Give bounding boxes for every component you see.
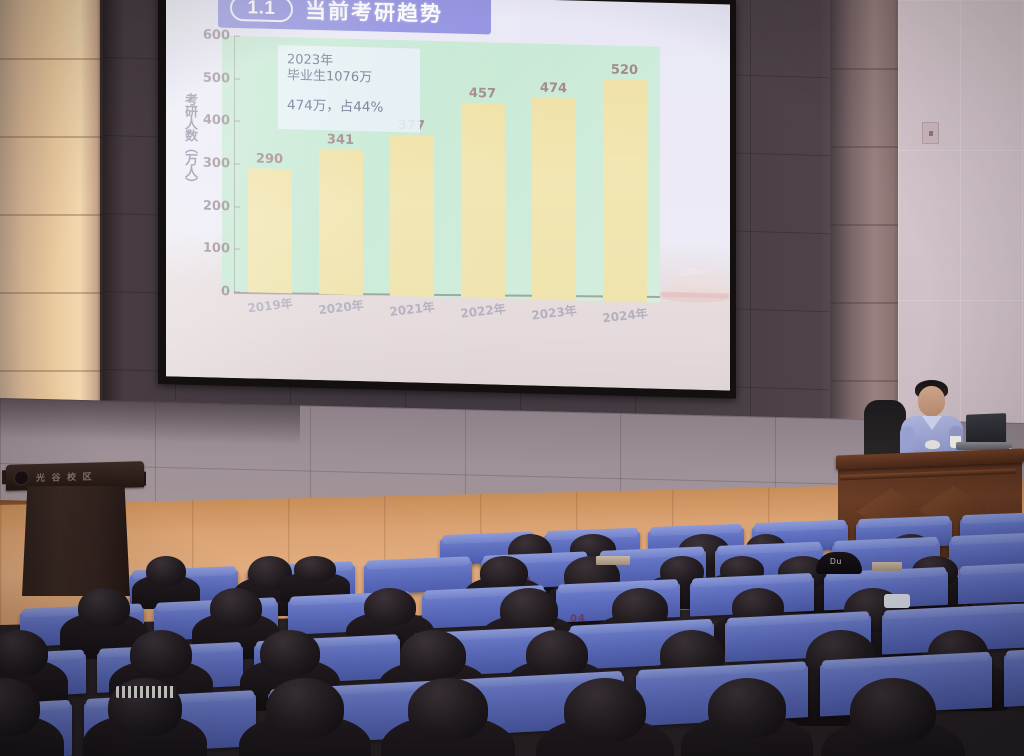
- chart-bar-value-label: 290: [248, 152, 292, 168]
- chart-bar-value-label: 520: [603, 62, 647, 78]
- auditorium-scene: 1.1 当前考研趋势 考研人数（万人） 0100200300400500600 …: [0, 0, 1024, 756]
- audience-member-head: [500, 588, 558, 632]
- audience-cap: Du: [816, 552, 862, 574]
- audience-member-head: [708, 678, 786, 738]
- audience-member-head: [400, 630, 466, 680]
- annotation-line-3: 474万，占44%: [287, 97, 411, 116]
- chart-y-tick-label: 0: [221, 284, 230, 299]
- slide-section-badge: 1.1: [230, 0, 293, 22]
- annotation-line-2: 毕业生1076万: [287, 68, 411, 87]
- audience-member-head: [260, 630, 320, 676]
- chart-y-tick-label: 400: [203, 113, 230, 129]
- chart-y-axis-ticks: 0100200300400500600: [194, 35, 234, 292]
- projection-screen-surface: 1.1 当前考研趋势 考研人数（万人） 0100200300400500600 …: [166, 0, 730, 390]
- books-decoration-icon: [656, 259, 730, 307]
- audience-member-head: [210, 588, 262, 628]
- chart-bar-column: 520: [603, 45, 647, 302]
- chart-y-tick-label: 300: [203, 156, 230, 172]
- chart-bar: [319, 149, 363, 296]
- audience-member-head: [408, 678, 488, 740]
- audience-seating: 0203040203Du: [0, 528, 1024, 756]
- chart-y-tick-label: 600: [203, 28, 230, 44]
- slide-title: 当前考研趋势: [305, 0, 443, 28]
- chart-annotation-box: 2023年 毕业生1076万 474万，占44%: [278, 45, 420, 133]
- chart-x-tick-label: 2021年: [382, 297, 442, 321]
- chart-x-tick-label: 2024年: [595, 303, 655, 327]
- chart-bar: [461, 103, 505, 299]
- laptop-screen[interactable]: [966, 413, 1006, 445]
- mouse-icon[interactable]: [925, 440, 940, 449]
- chart-y-tick-label: 500: [203, 70, 230, 86]
- audience-member-head: [294, 556, 336, 582]
- cap-text: Du: [830, 557, 842, 566]
- podium-logo-text: 光 谷 校 区: [36, 470, 94, 485]
- presentation-slide: 1.1 当前考研趋势 考研人数（万人） 0100200300400500600 …: [166, 0, 730, 390]
- audience-member-head: [0, 630, 48, 676]
- chart-bar: [248, 169, 292, 294]
- audience-member-head: [130, 630, 192, 678]
- chart-x-tick-label: 2019年: [240, 294, 300, 318]
- audience-member-head: [850, 678, 936, 744]
- chart-bar-value-label: 474: [532, 80, 576, 96]
- audience-member-head: [364, 588, 416, 626]
- chart-bar-column: 457: [461, 42, 505, 299]
- audience-member-head: [146, 556, 186, 586]
- chart-bar-value-label: 341: [319, 132, 363, 148]
- projection-screen: 1.1 当前考研趋势 考研人数（万人） 0100200300400500600 …: [158, 0, 736, 399]
- chart-x-tick-label: 2022年: [453, 299, 513, 323]
- chart-bar: [390, 135, 434, 297]
- wall-switch-plate-icon[interactable]: [922, 122, 939, 144]
- audience-white-collar: [884, 594, 910, 608]
- audience-member-head: [266, 678, 344, 738]
- seat-writing-tray: [872, 562, 902, 571]
- chart-x-tick-label: 2023年: [524, 301, 584, 325]
- audience-member-head: [480, 556, 528, 590]
- chart-bar: [603, 79, 647, 302]
- chart-bar: [532, 97, 576, 300]
- stage-wall-shadow: [0, 398, 300, 445]
- bar-chart: 考研人数（万人） 0100200300400500600 29034137745…: [186, 35, 694, 336]
- chart-x-tick-label: 2020年: [311, 295, 371, 319]
- audience-member-head: [564, 678, 646, 742]
- audience-member-head: [78, 588, 130, 628]
- audience-member-head: [526, 630, 588, 678]
- audience-striped-collar: [116, 686, 176, 698]
- chart-y-tick-label: 100: [203, 241, 230, 257]
- slide-title-bar: 1.1 当前考研趋势: [218, 0, 491, 34]
- chart-y-tick-label: 200: [203, 198, 230, 214]
- seat-writing-tray: [596, 556, 630, 565]
- seat-number: 04: [570, 613, 586, 625]
- chart-bar-column: 474: [532, 43, 576, 300]
- chart-bar-value-label: 457: [461, 86, 505, 102]
